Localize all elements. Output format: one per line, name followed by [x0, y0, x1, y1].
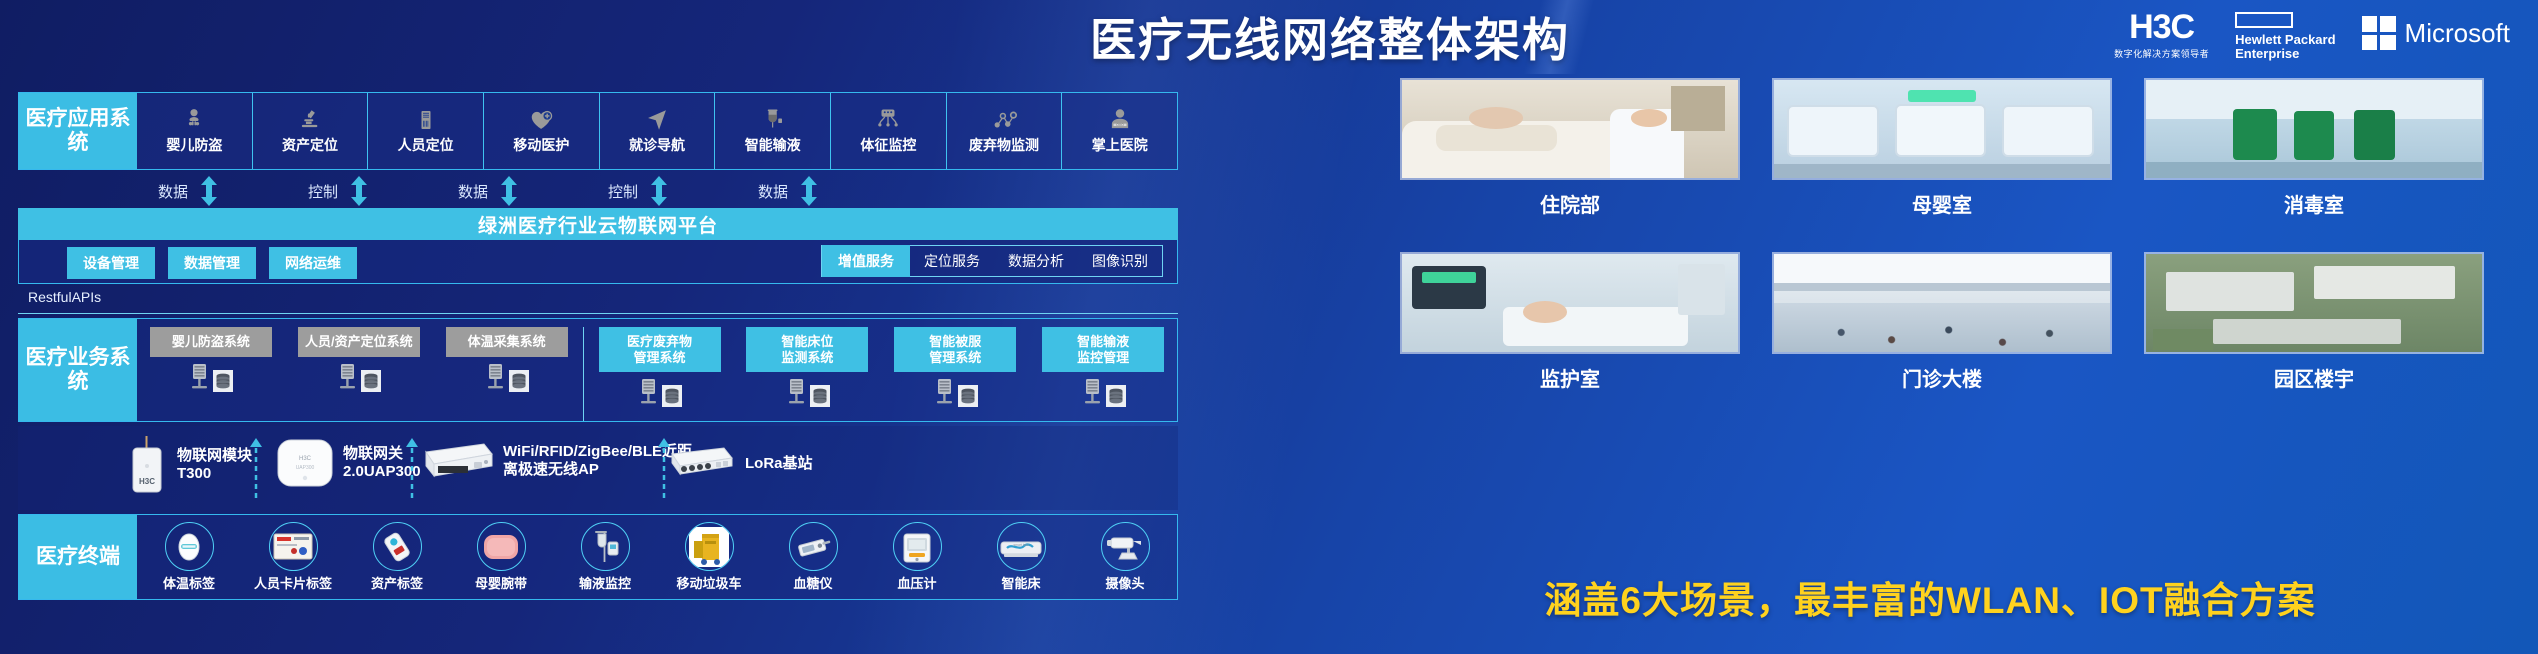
server-cabinet-icon [414, 107, 438, 133]
architecture-diagram: 医疗应用系统 婴儿防盗资产定位人员定位移动医护就诊导航智能输液体征监控废弃物监测… [18, 92, 1178, 600]
microsoft-logo: Microsoft [2362, 10, 2510, 50]
application-layer-label: 医疗应用系统 [19, 93, 137, 169]
tagline: 涵盖6大场景，最丰富的WLAN、IOT融合方案 [1340, 570, 2520, 624]
camera-icon [1101, 522, 1150, 571]
scene-image-campus-buildings [2144, 252, 2484, 354]
scene-photo-4: 监护室 [1400, 252, 1740, 392]
flow-item-1: 数据 [158, 176, 218, 206]
hpe-logo-line2: Enterprise [2235, 47, 2335, 61]
terminal-item-label: 人员卡片标签 [254, 573, 332, 592]
app-item-1[interactable]: 婴儿防盗 [137, 93, 252, 169]
terminal-item-8[interactable]: 血压计 [865, 515, 969, 599]
scene-photo-5: 门诊大楼 [1772, 252, 2112, 392]
business-group-divider [583, 327, 584, 421]
svg-text:OXO: OXO [1116, 123, 1124, 127]
terminal-item-label: 智能床 [1001, 573, 1040, 592]
terminal-item-label: 血糖仪 [793, 573, 832, 592]
bidirectional-arrow-icon [350, 176, 368, 206]
terminal-item-label: 资产标签 [371, 573, 423, 592]
terminal-layer-band: 医疗终端 体温标签人员卡片标签资产标签母婴腕带输液监控移动垃圾车血糖仪血压计sm… [18, 514, 1178, 600]
network-device-label: 物联网模块T300 [177, 447, 252, 483]
microsoft-squares-icon [2362, 16, 2396, 50]
business-item-1[interactable]: 婴儿防盗系统 [137, 327, 285, 392]
blood-pressure-monitor-icon [893, 522, 942, 571]
business-item-5[interactable]: 智能床位监测系统 [733, 327, 881, 407]
infusion-monitor-icon [581, 522, 630, 571]
page-title: 医疗无线网络整体架构 [940, 4, 1720, 70]
terminal-item-label: 母婴腕带 [475, 573, 527, 592]
business-item-label: 智能床位监测系统 [746, 327, 868, 372]
business-item-label: 智能输液监控管理 [1042, 327, 1164, 372]
terminal-item-label: 输液监控 [579, 573, 631, 592]
uplink-arrow-2 [406, 438, 418, 498]
terminal-item-label: 体温标签 [163, 573, 215, 592]
terminal-item-2[interactable]: 人员卡片标签 [241, 515, 345, 599]
scene-caption: 住院部 [1540, 189, 1600, 218]
app-item-label: 就诊导航 [629, 135, 685, 155]
server-db-icon [933, 377, 978, 407]
logo-group: H3C 数字化解决方案领导者 Hewlett Packard Enterpris… [2114, 10, 2510, 60]
flow-item-4: 控制 [608, 176, 668, 206]
restful-api-layer: RestfulAPIs [18, 288, 1178, 314]
svg-text:H3C: H3C [299, 456, 312, 462]
asset-tag-icon [373, 522, 422, 571]
server-db-icon [1081, 377, 1126, 407]
wireless-ap-icon [418, 438, 494, 484]
network-device-label: LoRa基站 [745, 455, 813, 473]
waste-nodes-icon [991, 107, 1018, 133]
network-device-2[interactable]: H3CUAP300物联网关2.0UAP300 [276, 436, 421, 490]
doctor-icon: OXO [1107, 107, 1133, 133]
bidirectional-arrow-icon [800, 176, 818, 206]
bidirectional-arrow-icon [200, 176, 218, 206]
scene-photo-6: 园区楼宇 [2144, 252, 2484, 392]
hpe-logo-line1: Hewlett Packard [2235, 33, 2335, 47]
app-item-label: 人员定位 [398, 135, 454, 155]
platform-service-left-2[interactable]: 数据管理 [168, 247, 256, 279]
svg-text:UAP300: UAP300 [296, 465, 315, 471]
hpe-logo-bar-icon [2235, 12, 2293, 28]
temperature-tag-icon [165, 522, 214, 571]
svg-text:smart bed: smart bed [1013, 543, 1028, 547]
terminal-item-4[interactable]: 母婴腕带 [449, 515, 553, 599]
flow-item-3: 数据 [458, 176, 518, 206]
h3c-logo-tagline: 数字化解决方案领导者 [2114, 47, 2209, 60]
business-item-label: 智能被服管理系统 [894, 327, 1016, 372]
terminal-item-label: 移动垃圾车 [676, 573, 741, 592]
terminal-item-label: 血压计 [897, 573, 936, 592]
business-layer-items: 婴儿防盗系统人员/资产定位系统体温采集系统医疗废弃物管理系统智能床位监测系统智能… [137, 319, 1177, 421]
app-item-8[interactable]: 废弃物监测 [946, 93, 1062, 169]
application-layer-items: 婴儿防盗资产定位人员定位移动医护就诊导航智能输液体征监控废弃物监测OXO掌上医院 [137, 93, 1177, 169]
app-item-label: 废弃物监测 [969, 135, 1039, 155]
flow-item-2: 控制 [308, 176, 368, 206]
scene-caption: 消毒室 [2284, 189, 2344, 218]
flow-label: 控制 [308, 181, 338, 202]
network-device-3[interactable]: WiFi/RFID/ZigBee/BLE近距离极速无线AP [418, 438, 692, 484]
terminal-item-5[interactable]: 输液监控 [553, 515, 657, 599]
app-item-label: 资产定位 [282, 135, 338, 155]
scene-image-icu-room [1400, 252, 1740, 354]
baby-icon [181, 107, 207, 133]
platform-service-right-3[interactable]: 图像识别 [1078, 245, 1162, 277]
personnel-card-tag-icon [269, 522, 318, 571]
flow-label: 控制 [608, 181, 638, 202]
server-db-icon [484, 362, 529, 392]
flow-item-5: 数据 [758, 176, 818, 206]
business-item-label: 婴儿防盗系统 [150, 327, 272, 357]
platform-services-row: 设备管理数据管理网络运维 增值服务定位服务数据分析图像识别 [18, 240, 1178, 284]
scene-image-sterilization-room [2144, 78, 2484, 180]
terminal-item-10[interactable]: 摄像头 [1073, 515, 1177, 599]
terminal-item-7[interactable]: 血糖仪 [761, 515, 865, 599]
scene-image-maternity-room [1772, 78, 2112, 180]
scene-image-inpatient-ward [1400, 78, 1740, 180]
iot-module-icon: H3C [126, 436, 168, 494]
app-item-3[interactable]: 人员定位 [367, 93, 483, 169]
wristband-icon [477, 522, 526, 571]
platform-services-left: 设备管理数据管理网络运维 [67, 247, 357, 279]
app-item-label: 婴儿防盗 [166, 135, 222, 155]
waste-cart-icon [685, 522, 734, 571]
slide-root: 医疗无线网络整体架构 H3C 数字化解决方案领导者 Hewlett Packar… [0, 0, 2538, 654]
app-item-label: 掌上医院 [1092, 135, 1148, 155]
app-item-6[interactable]: 智能输液 [714, 93, 830, 169]
app-item-label: 移动医护 [513, 135, 569, 155]
app-item-2[interactable]: 资产定位 [252, 93, 368, 169]
cloud-platform-title: 绿洲医疗行业云物联网平台 [478, 211, 718, 238]
terminal-layer-label: 医疗终端 [19, 515, 137, 599]
scene-caption: 母婴室 [1912, 189, 1972, 218]
uplink-arrow-3 [658, 438, 670, 498]
bidirectional-arrow-icon [650, 176, 668, 206]
header: 医疗无线网络整体架构 H3C 数字化解决方案领导者 Hewlett Packar… [0, 0, 2538, 74]
microscope-icon [297, 107, 323, 133]
app-item-4[interactable]: 移动医护 [483, 93, 599, 169]
terminal-item-6[interactable]: 移动垃圾车 [657, 515, 761, 599]
navigation-arrow-icon [644, 107, 670, 133]
scene-caption: 门诊大楼 [1902, 363, 1982, 392]
platform-service-highlight[interactable]: 增值服务 [822, 245, 910, 277]
business-item-6[interactable]: 智能被服管理系统 [881, 327, 1029, 407]
network-device-layer: H3C物联网模块T300H3CUAP300物联网关2.0UAP300WiFi/R… [18, 426, 1178, 510]
business-item-label: 体温采集系统 [446, 327, 568, 357]
restful-api-divider [18, 313, 1178, 314]
app-item-label: 体征监控 [860, 135, 916, 155]
business-item-4[interactable]: 医疗废弃物管理系统 [586, 327, 734, 407]
server-db-icon [188, 362, 233, 392]
h3c-logo-mark: H3C [2129, 10, 2194, 44]
server-db-icon [637, 377, 682, 407]
heart-plus-icon [528, 107, 555, 133]
cloud-platform-bar: 绿洲医疗行业云物联网平台 [18, 208, 1178, 240]
business-item-label: 医疗废弃物管理系统 [599, 327, 721, 372]
flow-label: 数据 [758, 181, 788, 202]
app-item-7[interactable]: 体征监控 [830, 93, 946, 169]
business-item-2[interactable]: 人员/资产定位系统 [285, 327, 433, 392]
platform-service-right-2[interactable]: 数据分析 [994, 245, 1078, 277]
business-layer-label: 医疗业务系统 [19, 319, 137, 421]
vital-monitor-icon [875, 107, 901, 133]
glucose-meter-icon [789, 522, 838, 571]
smart-bed-icon: smart bed [997, 522, 1046, 571]
flow-label: 数据 [158, 181, 188, 202]
network-device-1[interactable]: H3C物联网模块T300 [126, 436, 252, 494]
terminal-item-3[interactable]: 资产标签 [345, 515, 449, 599]
scene-photo-2: 母婴室 [1772, 78, 2112, 218]
iot-gateway-ap-icon: H3CUAP300 [276, 436, 334, 490]
server-db-icon [785, 377, 830, 407]
terminal-item-9[interactable]: smart bed智能床 [969, 515, 1073, 599]
terminal-item-1[interactable]: 体温标签 [137, 515, 241, 599]
svg-text:H3C: H3C [139, 477, 155, 486]
server-db-icon [336, 362, 381, 392]
flow-label: 数据 [458, 181, 488, 202]
app-item-9[interactable]: OXO掌上医院 [1061, 93, 1177, 169]
business-item-3[interactable]: 体温采集系统 [433, 327, 581, 392]
scene-photo-grid: 住院部母婴室消毒室监护室门诊大楼园区楼宇 [1400, 78, 2510, 538]
business-item-7[interactable]: 智能输液监控管理 [1029, 327, 1177, 407]
bidirectional-arrow-icon [500, 176, 518, 206]
platform-service-right-1[interactable]: 定位服务 [910, 245, 994, 277]
data-control-flow-row: 数据控制数据控制数据 [18, 172, 1178, 208]
scene-image-outpatient-hall [1772, 252, 2112, 354]
platform-services-right: 增值服务定位服务数据分析图像识别 [821, 245, 1163, 277]
scene-caption: 监护室 [1540, 363, 1600, 392]
iv-drip-icon [761, 107, 785, 133]
terminal-item-label: 摄像头 [1105, 573, 1144, 592]
uplink-arrow-1 [250, 438, 262, 498]
application-layer-band: 医疗应用系统 婴儿防盗资产定位人员定位移动医护就诊导航智能输液体征监控废弃物监测… [18, 92, 1178, 170]
h3c-logo: H3C 数字化解决方案领导者 [2114, 10, 2209, 60]
app-item-5[interactable]: 就诊导航 [599, 93, 715, 169]
scene-photo-3: 消毒室 [2144, 78, 2484, 218]
app-item-label: 智能输液 [745, 135, 801, 155]
restful-api-label: RestfulAPIs [28, 289, 101, 305]
platform-service-left-3[interactable]: 网络运维 [269, 247, 357, 279]
business-item-label: 人员/资产定位系统 [298, 327, 420, 357]
scene-caption: 园区楼宇 [2274, 363, 2354, 392]
microsoft-logo-text: Microsoft [2405, 18, 2510, 49]
platform-service-left-1[interactable]: 设备管理 [67, 247, 155, 279]
scene-photo-1: 住院部 [1400, 78, 1740, 218]
terminal-layer-items: 体温标签人员卡片标签资产标签母婴腕带输液监控移动垃圾车血糖仪血压计smart b… [137, 515, 1177, 599]
network-device-4[interactable]: LoRa基站 [658, 444, 813, 484]
business-layer-band: 医疗业务系统 婴儿防盗系统人员/资产定位系统体温采集系统医疗废弃物管理系统智能床… [18, 318, 1178, 422]
hpe-logo: Hewlett Packard Enterprise [2235, 10, 2335, 60]
